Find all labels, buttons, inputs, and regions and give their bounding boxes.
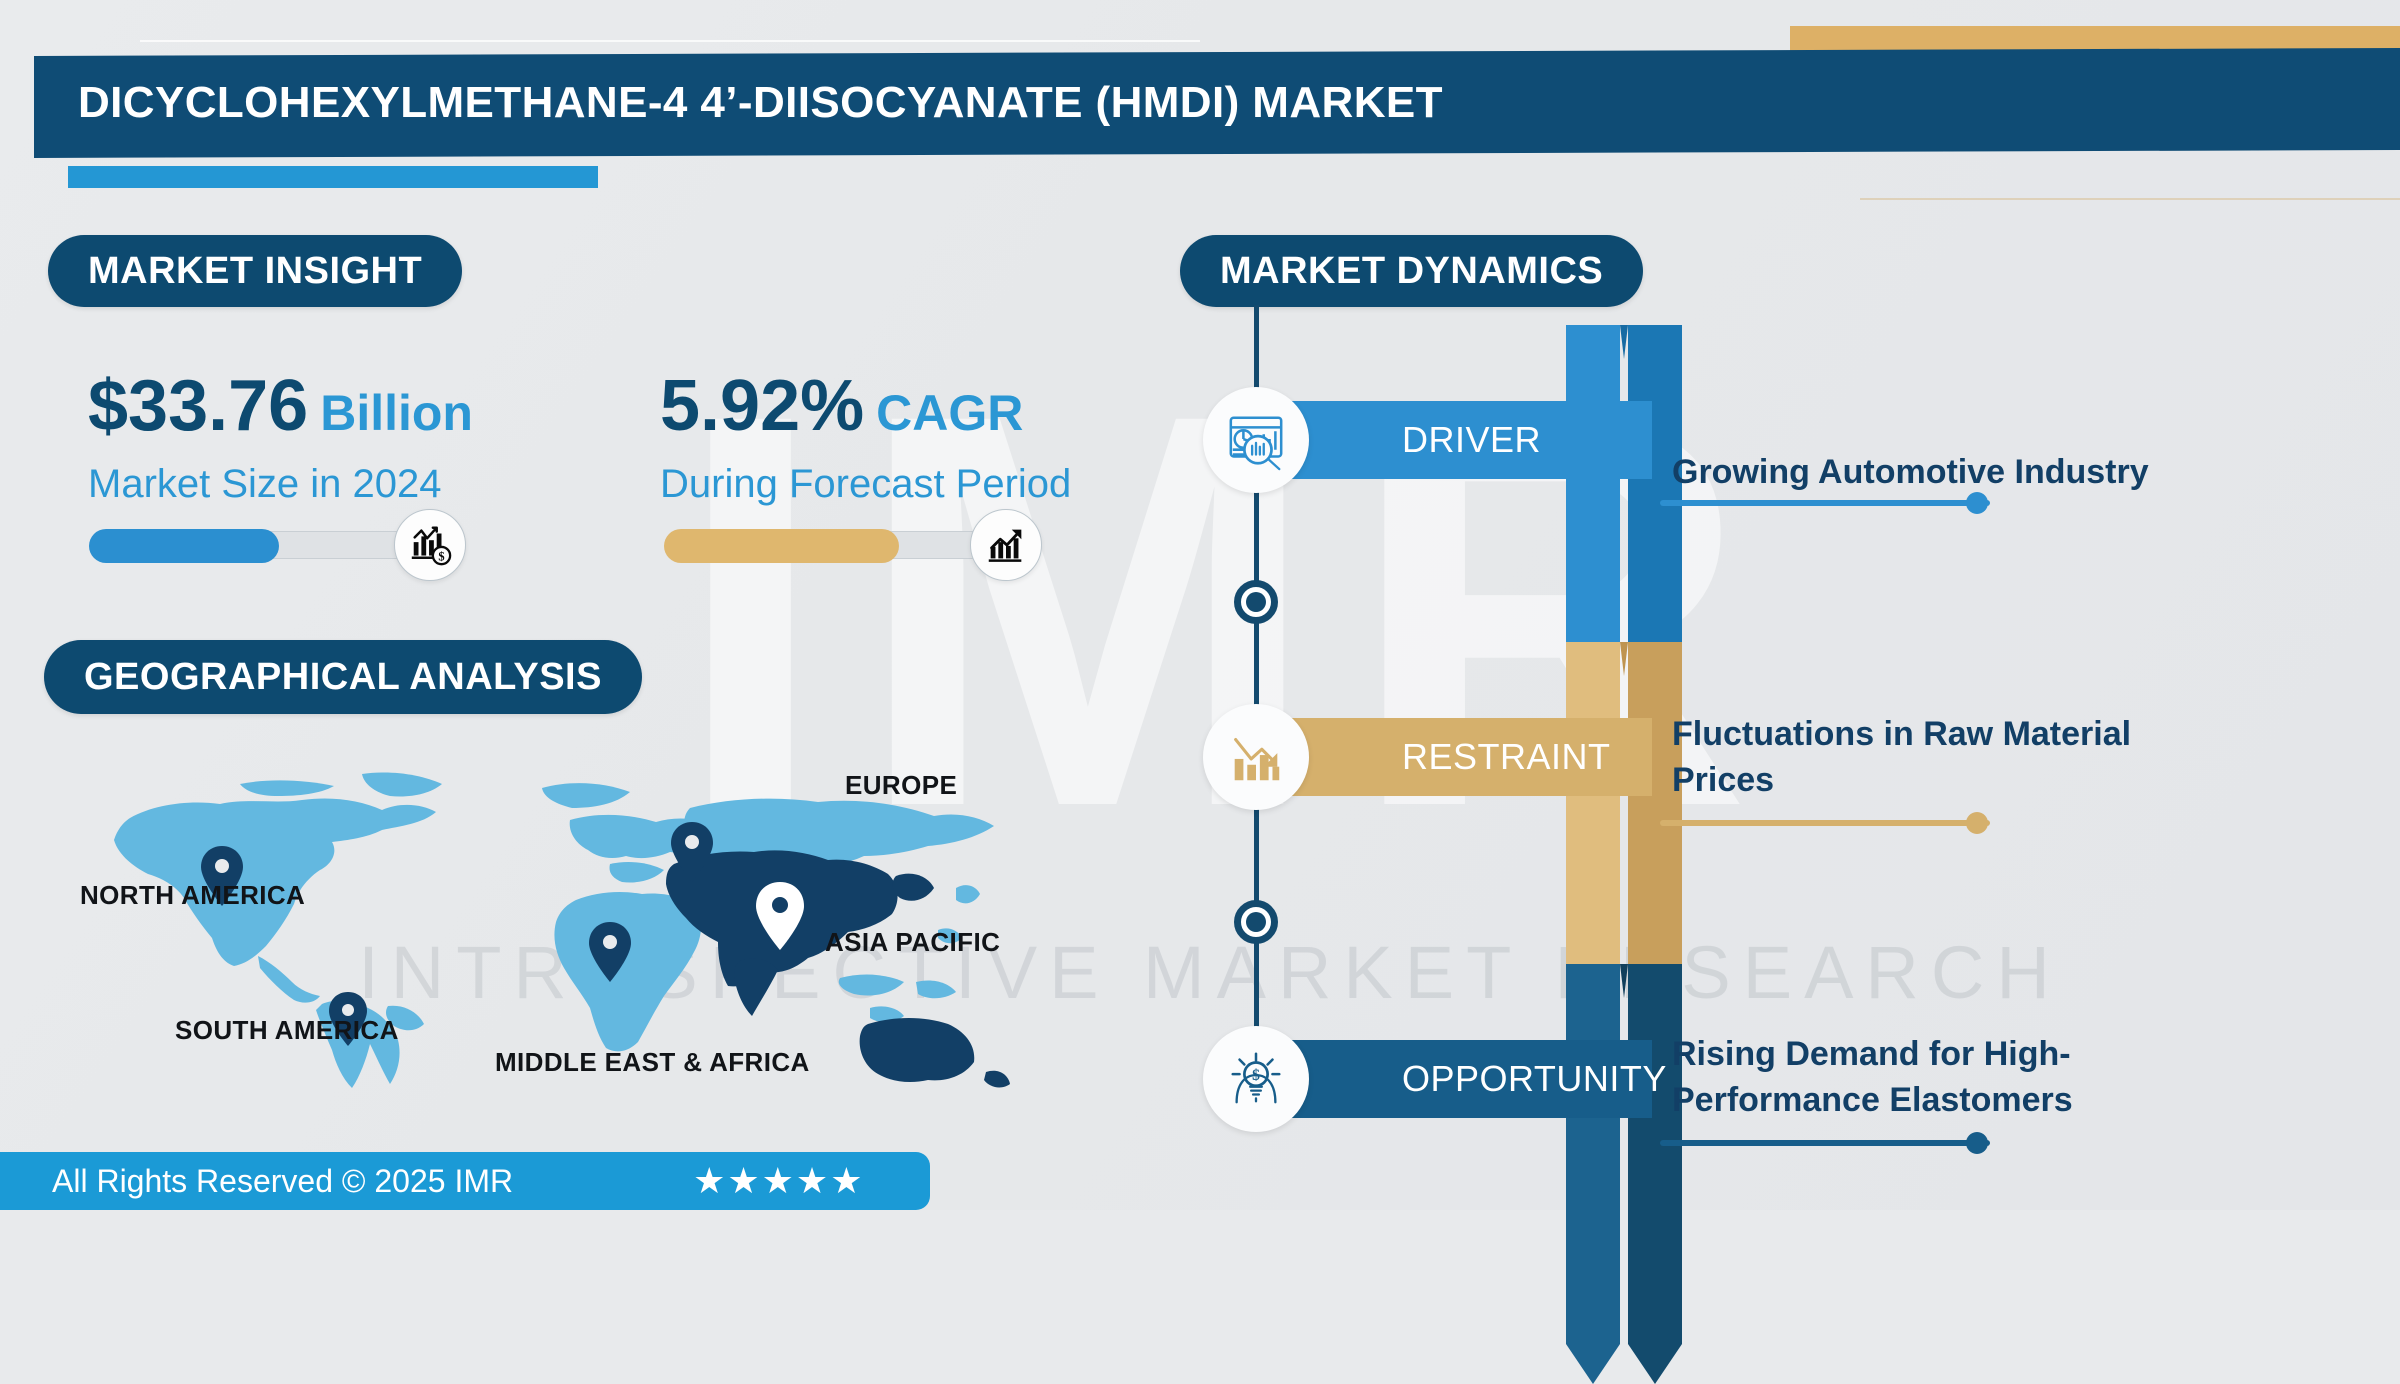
page-title: DICYCLOHEXYLMETHANE-4 4’-DIISOCYANATE (H… [78, 48, 1443, 158]
market-size-progress-fill [89, 529, 279, 563]
svg-text:$: $ [438, 549, 444, 563]
stat-value-row: $33.76Billion [88, 370, 473, 442]
opportunity-text: Rising Demand for High-Performance Elast… [1672, 1032, 2232, 1124]
header-hairline-bottom [1860, 198, 2400, 200]
market-size-value: $33.76 [88, 366, 308, 446]
infographic-canvas: IMR INTROSPECTIVE MARKET RESEARCH DICYCL… [0, 0, 2400, 1210]
timeline-node-2 [1234, 900, 1278, 944]
growth-arrow-chart-icon [970, 509, 1042, 581]
cagr-value: 5.92% [660, 366, 864, 446]
footer-bar: All Rights Reserved © 2025 IMR ★★★★★ [0, 1152, 930, 1210]
stat-cagr: 5.92%CAGR During Forecast Period [660, 370, 1071, 507]
footer-copyright: All Rights Reserved © 2025 IMR [52, 1163, 513, 1200]
driver-connector-line [1660, 500, 1990, 506]
restraint-connector-dot [1966, 812, 1988, 834]
map-label-middle-east-africa: MIDDLE EAST & AFRICA [495, 1047, 810, 1078]
header-underline-accent [68, 166, 598, 188]
driver-text: Growing Automotive Industry [1672, 450, 2149, 496]
header-hairline-top [140, 40, 1200, 42]
cagr-unit: CAGR [876, 385, 1023, 441]
cagr-caption: During Forecast Period [660, 462, 1071, 507]
market-size-progress-track [90, 531, 430, 559]
cagr-progress-track [665, 531, 1005, 559]
opportunity-label: OPPORTUNITY [1402, 1058, 1667, 1100]
section-header-geographical-analysis: GEOGRAPHICAL ANALYSIS [44, 640, 642, 714]
rating-stars: ★★★★★ [693, 1160, 864, 1202]
driver-connector-dot [1966, 492, 1988, 514]
market-size-unit: Billion [320, 385, 473, 441]
opportunity-band: OPPORTUNITY [1252, 1040, 1652, 1118]
opportunity-connector-dot [1966, 1132, 1988, 1154]
cagr-progress-fill [664, 529, 899, 563]
opportunity-ribbon [1566, 964, 1682, 1384]
declining-bar-chart-icon [1203, 704, 1309, 810]
driver-band: DRIVER [1252, 401, 1652, 479]
map-label-south-america: SOUTH AMERICA [175, 1015, 399, 1046]
section-header-market-dynamics: MARKET DYNAMICS [1180, 235, 1643, 307]
dashboard-analytics-magnifier-icon [1203, 387, 1309, 493]
restraint-label: RESTRAINT [1402, 736, 1611, 778]
lightbulb-dollar-icon: $ [1203, 1026, 1309, 1132]
map-label-europe: EUROPE [845, 770, 957, 801]
driver-label: DRIVER [1402, 419, 1541, 461]
restraint-connector-line [1660, 820, 1990, 826]
timeline-node-1 [1234, 580, 1278, 624]
map-label-asia-pacific: ASIA PACIFIC [825, 927, 1000, 958]
stat-market-size: $33.76Billion Market Size in 2024 [88, 370, 473, 507]
map-label-north-america: NORTH AMERICA [80, 880, 305, 911]
bar-chart-dollar-icon: $ [394, 509, 466, 581]
market-size-caption: Market Size in 2024 [88, 462, 473, 507]
restraint-band: RESTRAINT [1252, 718, 1652, 796]
opportunity-connector-line [1660, 1140, 1990, 1146]
section-header-market-insight: MARKET INSIGHT [48, 235, 462, 307]
stat-value-row: 5.92%CAGR [660, 370, 1071, 442]
restraint-text: Fluctuations in Raw Material Prices [1672, 712, 2232, 804]
